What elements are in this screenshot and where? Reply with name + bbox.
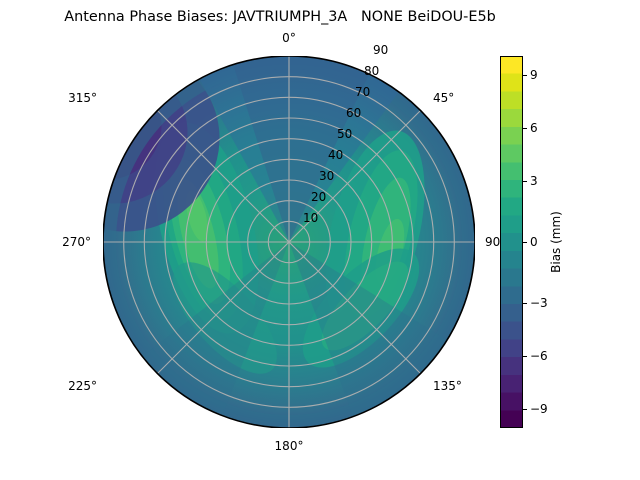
azimuth-tick-225: 225°	[68, 380, 97, 392]
radial-tick-70: 70	[355, 86, 370, 98]
radial-tick-40: 40	[328, 149, 343, 161]
colorbar-tick-label-6: 6	[530, 122, 538, 134]
azimuth-tick-135: 135°	[433, 380, 462, 392]
azimuth-tick-270: 270°	[62, 236, 91, 248]
radial-tick-30: 30	[319, 170, 334, 182]
page-title: Antenna Phase Biases: JAVTRIUMPH_3A NONE…	[0, 9, 560, 25]
colorbar[interactable]: 9 6 3 0 −3 −6 −9	[500, 56, 523, 428]
colorbar-tick-label-m3: −3	[530, 297, 548, 309]
colorbar-tick-mark-6	[523, 128, 527, 129]
radial-tick-50: 50	[337, 128, 352, 140]
colorbar-tick-mark-m3	[523, 303, 527, 304]
colorbar-tick-mark-3	[523, 181, 527, 182]
colorbar-tick-label-m9: −9	[530, 403, 548, 415]
colorbar-tick-label-3: 3	[530, 175, 538, 187]
radial-tick-10: 10	[303, 212, 318, 224]
figure-canvas: Antenna Phase Biases: JAVTRIUMPH_3A NONE…	[0, 0, 640, 480]
polar-grid	[103, 56, 475, 428]
radial-tick-80: 80	[364, 65, 379, 77]
radial-tick-90: 90	[373, 44, 388, 56]
azimuth-tick-180: 180°	[275, 440, 304, 452]
colorbar-axis-label: Bias (mm)	[550, 211, 562, 273]
polar-plot-axes[interactable]: 0° 45° 90 135° 180° 225° 270° 315° 10 20…	[103, 56, 475, 428]
radial-tick-60: 60	[346, 107, 361, 119]
radial-tick-20: 20	[311, 191, 326, 203]
azimuth-tick-45: 45°	[433, 92, 454, 104]
colorbar-tick-mark-m9	[523, 409, 527, 410]
colorbar-tick-label-9: 9	[530, 69, 538, 81]
azimuth-tick-315: 315°	[68, 92, 97, 104]
colorbar-tick-label-0: 0	[530, 236, 538, 248]
colorbar-tick-mark-9	[523, 75, 527, 76]
azimuth-tick-0: 0°	[282, 32, 296, 44]
colorbar-tick-mark-0	[523, 242, 527, 243]
colorbar-gradient	[500, 56, 523, 428]
colorbar-tick-mark-m6	[523, 356, 527, 357]
azimuth-tick-90: 90	[485, 236, 500, 248]
polar-contour-svg	[103, 56, 475, 428]
colorbar-tick-label-m6: −6	[530, 350, 548, 362]
